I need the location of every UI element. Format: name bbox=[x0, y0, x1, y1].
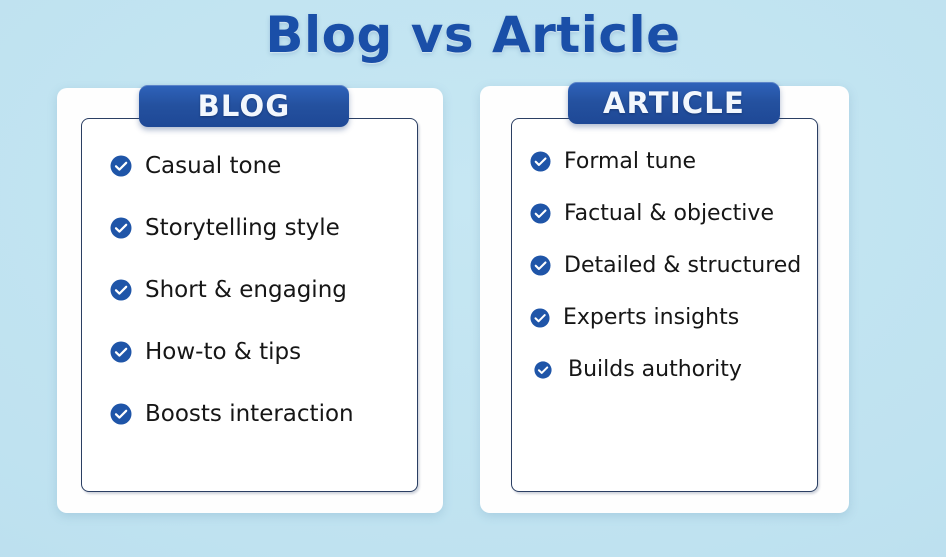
card-inner-frame-blog: Casual tone Storytelling style bbox=[81, 118, 418, 492]
list-item: Formal tune bbox=[530, 149, 817, 174]
feature-list-article: Formal tune Factual & objective bbox=[512, 119, 817, 409]
list-item: Builds authority bbox=[534, 357, 817, 382]
list-item: How-to & tips bbox=[110, 339, 417, 365]
list-item-label: Factual & objective bbox=[564, 201, 774, 226]
check-circle-icon bbox=[530, 151, 551, 172]
list-item: Experts insights bbox=[530, 305, 817, 330]
card-inner-frame-article: Formal tune Factual & objective bbox=[511, 118, 818, 492]
list-item: Boosts interaction bbox=[110, 401, 417, 427]
list-item-label: Short & engaging bbox=[145, 277, 347, 303]
check-circle-icon bbox=[110, 155, 132, 177]
list-item-label: Casual tone bbox=[145, 153, 281, 179]
list-item: Casual tone bbox=[110, 153, 417, 179]
list-item: Factual & objective bbox=[530, 201, 817, 226]
list-item-label: How-to & tips bbox=[145, 339, 301, 365]
list-item: Short & engaging bbox=[110, 277, 417, 303]
column-header-badge-article: ARTICLE bbox=[568, 82, 780, 124]
feature-list-blog: Casual tone Storytelling style bbox=[82, 119, 417, 463]
list-item-label: Builds authority bbox=[568, 357, 742, 382]
check-circle-icon bbox=[110, 341, 132, 363]
column-header-badge-blog: BLOG bbox=[139, 85, 349, 127]
check-circle-icon bbox=[530, 308, 550, 328]
list-item: Detailed & structured bbox=[530, 253, 817, 278]
check-circle-icon bbox=[110, 403, 132, 425]
list-item-label: Detailed & structured bbox=[564, 253, 801, 278]
comparison-card-article: Formal tune Factual & objective bbox=[480, 86, 849, 513]
infographic-canvas: Blog vs Article Casual tone bbox=[0, 0, 946, 557]
check-circle-icon bbox=[110, 279, 132, 301]
comparison-card-blog: Casual tone Storytelling style bbox=[57, 88, 443, 513]
list-item: Storytelling style bbox=[110, 215, 417, 241]
list-item-label: Boosts interaction bbox=[145, 401, 354, 427]
list-item-label: Experts insights bbox=[563, 305, 739, 330]
list-item-label: Formal tune bbox=[564, 149, 696, 174]
check-circle-icon bbox=[110, 217, 132, 239]
check-circle-icon bbox=[534, 361, 552, 379]
check-circle-icon bbox=[530, 203, 551, 224]
check-circle-icon bbox=[530, 255, 551, 276]
page-title: Blog vs Article bbox=[0, 6, 946, 64]
list-item-label: Storytelling style bbox=[145, 215, 340, 241]
